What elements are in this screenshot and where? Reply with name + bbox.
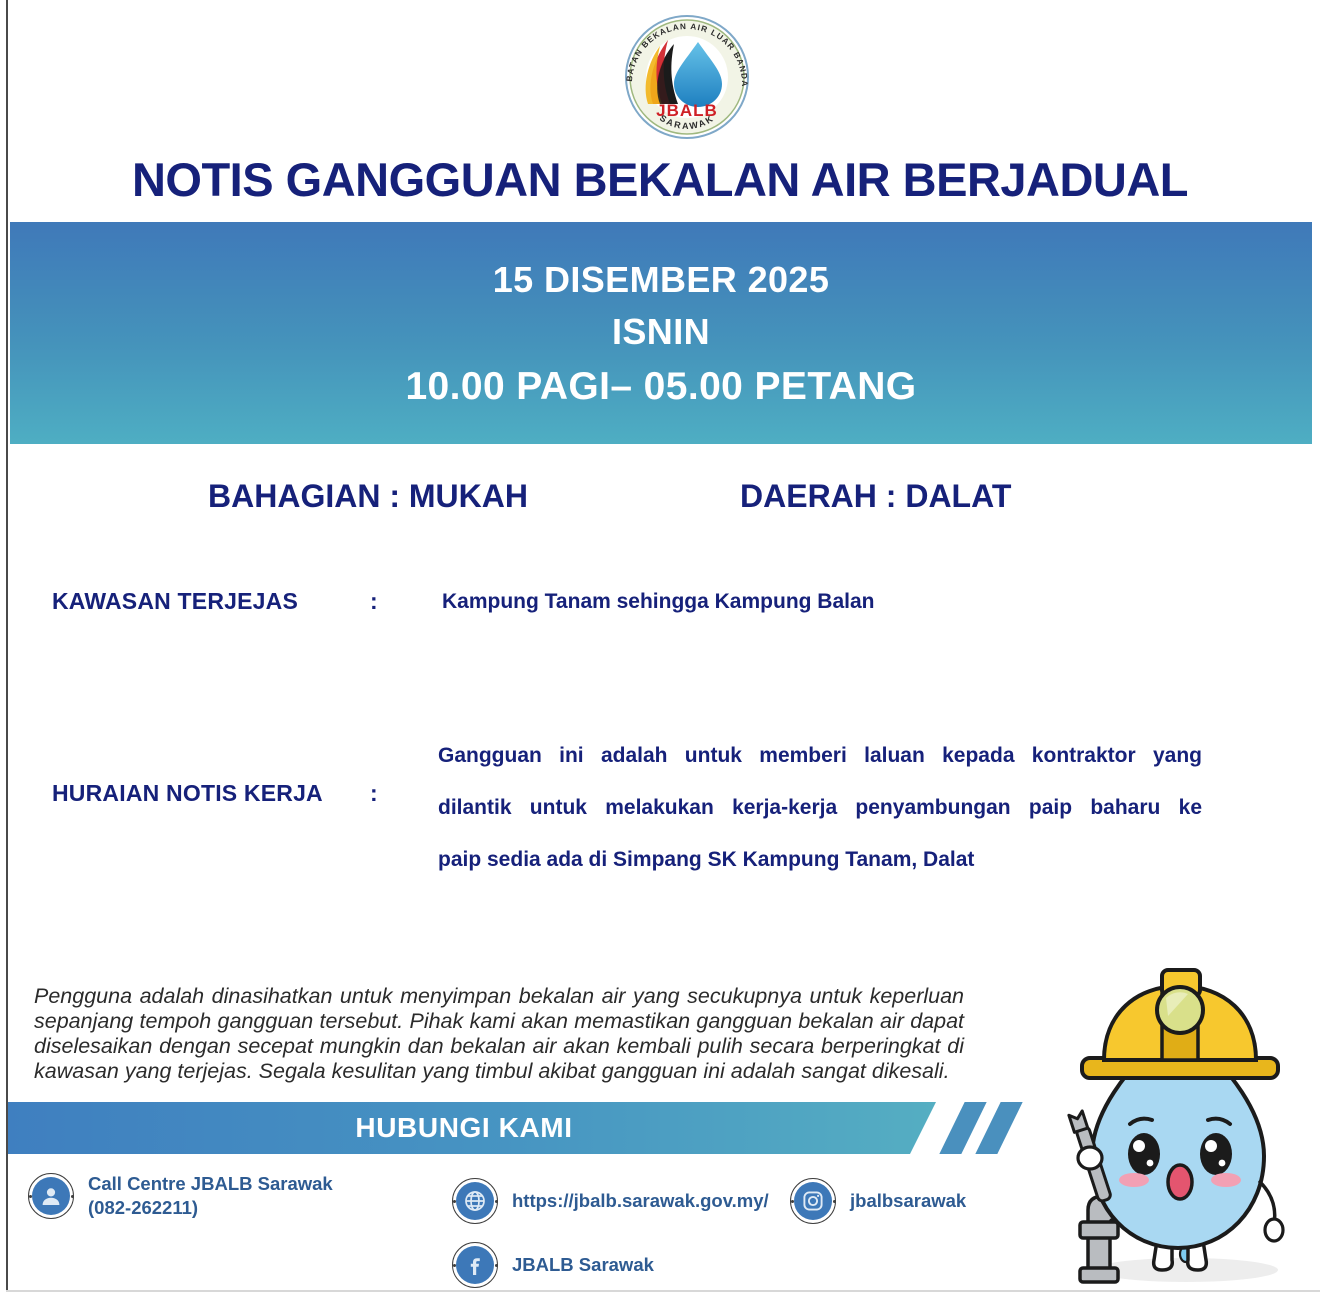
contact-website-text: https://jbalb.sarawak.gov.my/ [512, 1189, 769, 1213]
contact-website[interactable]: https://jbalb.sarawak.gov.my/ [452, 1178, 769, 1224]
work-description-line-3: paip sedia ada di Simpang SK Kampung Tan… [438, 834, 1202, 886]
banner-day: ISNIN [10, 306, 1312, 358]
work-description-text: Gangguan ini adalah untuk memberi laluan… [438, 730, 1202, 886]
region-row: BAHAGIAN : MUKAH DAERAH : DALAT [0, 478, 1320, 524]
banner-date: 15 DISEMBER 2025 [10, 254, 1312, 306]
contact-banner-title: HUBUNGI KAMI [0, 1112, 928, 1144]
contact-facebook-text: JBALB Sarawak [512, 1253, 654, 1277]
water-droplet-mascot [1026, 958, 1314, 1294]
work-description-row: HURAIAN NOTIS KERJA : Gangguan ini adala… [0, 730, 1320, 870]
affected-area-value: Kampung Tanam sehingga Kampung Balan [442, 590, 875, 614]
contact-call-centre-text: Call Centre JBALB Sarawak (082-262211) [88, 1172, 333, 1220]
contact-facebook[interactable]: JBALB Sarawak [452, 1242, 654, 1288]
banner-time: 10.00 PAGI– 05.00 PETANG [10, 358, 1312, 416]
page-title: NOTIS GANGGUAN BEKALAN AIR BERJADUAL [0, 152, 1320, 207]
work-description-line-2: dilantik untuk melakukan kerja-kerja pen… [438, 782, 1202, 834]
contact-instagram-text: jbalbsarawak [850, 1189, 966, 1213]
affected-area-label: KAWASAN TERJEJAS [52, 588, 298, 615]
contact-call-centre[interactable]: Call Centre JBALB Sarawak (082-262211) [28, 1172, 333, 1220]
notice-page: JBALB JABATAN BEKALAN AIR LUAR BANDAR SA… [0, 0, 1320, 1305]
work-description-colon: : [370, 780, 378, 807]
instagram-icon [790, 1178, 836, 1224]
globe-icon [452, 1178, 498, 1224]
work-description-label: HURAIAN NOTIS KERJA [52, 780, 323, 807]
user-icon [28, 1173, 74, 1219]
work-description-line-1: Gangguan ini adalah untuk memberi laluan… [438, 730, 1202, 782]
contact-call-centre-line1: Call Centre JBALB Sarawak [88, 1172, 333, 1196]
affected-area-row: KAWASAN TERJEJAS : Kampung Tanam sehingg… [0, 588, 1320, 628]
jbalb-logo: JBALB JABATAN BEKALAN AIR LUAR BANDAR SA… [612, 12, 762, 142]
contact-instagram[interactable]: jbalbsarawak [790, 1178, 966, 1224]
facebook-icon [452, 1242, 498, 1288]
district-label: DAERAH : DALAT [740, 478, 1011, 515]
contact-call-centre-line2: (082-262211) [88, 1196, 333, 1220]
advisory-text: Pengguna adalah dinasihatkan untuk menyi… [34, 984, 964, 1084]
date-banner: 15 DISEMBER 2025 ISNIN 10.00 PAGI– 05.00… [10, 222, 1312, 444]
division-label: BAHAGIAN : MUKAH [208, 478, 528, 515]
affected-area-colon: : [370, 588, 378, 615]
